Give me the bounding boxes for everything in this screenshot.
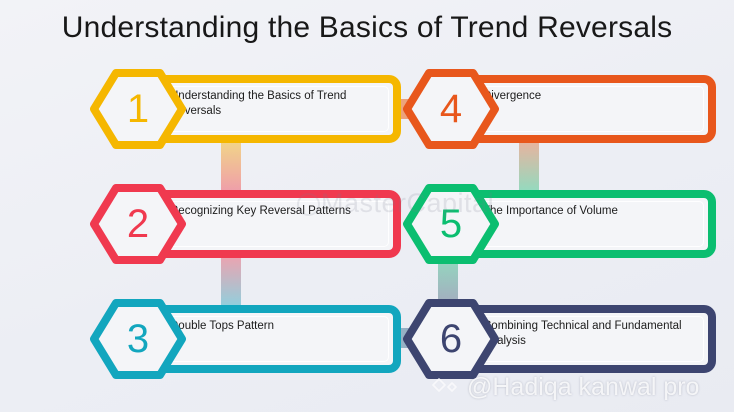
step-item-3[interactable]: Double Tops Pattern3 bbox=[88, 296, 401, 382]
infographic-canvas: Understanding the Basics of Trend Revers… bbox=[0, 0, 734, 412]
step-item-5[interactable]: The Importance of Volume5 bbox=[401, 181, 716, 267]
step-label-4: Divergence bbox=[483, 89, 698, 104]
step-item-4[interactable]: Divergence4 bbox=[401, 66, 716, 152]
step-label-6: Combining Technical and Fundamental Anal… bbox=[483, 319, 698, 349]
page-title: Understanding the Basics of Trend Revers… bbox=[0, 8, 734, 48]
step-hexagon-3: 3 bbox=[88, 296, 188, 382]
step-hexagon-4: 4 bbox=[401, 66, 501, 152]
step-hexagon-6: 6 bbox=[401, 296, 501, 382]
step-item-1[interactable]: Understanding the Basics of Trend Revers… bbox=[88, 66, 401, 152]
step-item-6[interactable]: Combining Technical and Fundamental Anal… bbox=[401, 296, 716, 382]
step-hexagon-2: 2 bbox=[88, 181, 188, 267]
step-label-3: Double Tops Pattern bbox=[170, 319, 383, 334]
step-label-1: Understanding the Basics of Trend Revers… bbox=[170, 89, 383, 119]
step-label-2: Recognizing Key Reversal Patterns bbox=[170, 204, 383, 219]
step-hexagon-5: 5 bbox=[401, 181, 501, 267]
step-hexagon-1: 1 bbox=[88, 66, 188, 152]
step-label-5: The Importance of Volume bbox=[483, 204, 698, 219]
step-item-2[interactable]: Recognizing Key Reversal Patterns2 bbox=[88, 181, 401, 267]
